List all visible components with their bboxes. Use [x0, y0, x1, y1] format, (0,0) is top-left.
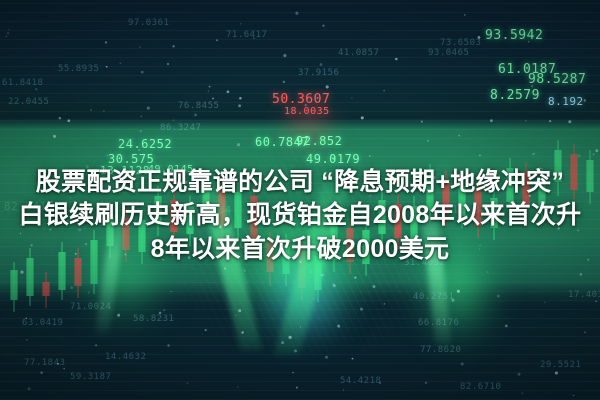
news-thumbnail-image: 93.594261.018798.52878.25798.19250.36071… — [0, 0, 600, 400]
particle-speckles — [0, 0, 600, 400]
